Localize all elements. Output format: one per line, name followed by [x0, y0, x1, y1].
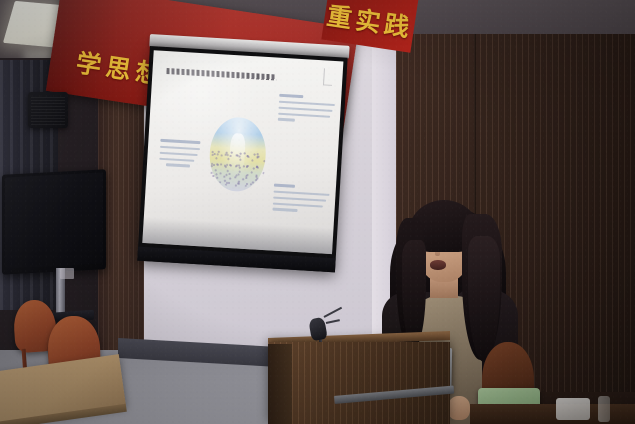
wall-speaker [28, 92, 68, 128]
slide-block-line [274, 191, 330, 197]
speaker-grill [31, 95, 65, 125]
banner-text-right: 重实践 [325, 0, 416, 45]
slide-text-block-right-bottom [272, 184, 330, 217]
presentation-room-photo: 学思想 强党性 重实践 [0, 0, 635, 424]
projection-screen [137, 46, 347, 272]
wooden-podium [268, 342, 450, 424]
slide-corner-mark [323, 68, 333, 86]
projected-slide [142, 50, 343, 254]
tissue-box [556, 398, 590, 420]
podium-grain [268, 342, 450, 424]
wall-monitor [2, 169, 106, 274]
wall-outlet-plate [60, 268, 74, 279]
slide-block-line [278, 107, 332, 113]
slide-text-block-right-top [278, 94, 336, 127]
slide-block-line [273, 196, 326, 202]
screen-glare [142, 50, 264, 156]
monitor-screen [5, 172, 103, 268]
slide-block-line [279, 101, 335, 107]
hand [448, 396, 470, 420]
slide-block-heading [274, 184, 295, 188]
podium-side-face [268, 344, 292, 424]
slide-block-line [273, 202, 323, 207]
mouth [430, 260, 446, 270]
side-table [470, 404, 635, 424]
slide-block-heading [279, 94, 303, 98]
slide-block-line [272, 208, 297, 212]
slide-block-line [159, 157, 194, 161]
slide-block-line [278, 112, 330, 117]
slide-block-line [278, 118, 295, 121]
slide-block-line [166, 164, 190, 168]
water-bottle [598, 396, 610, 422]
